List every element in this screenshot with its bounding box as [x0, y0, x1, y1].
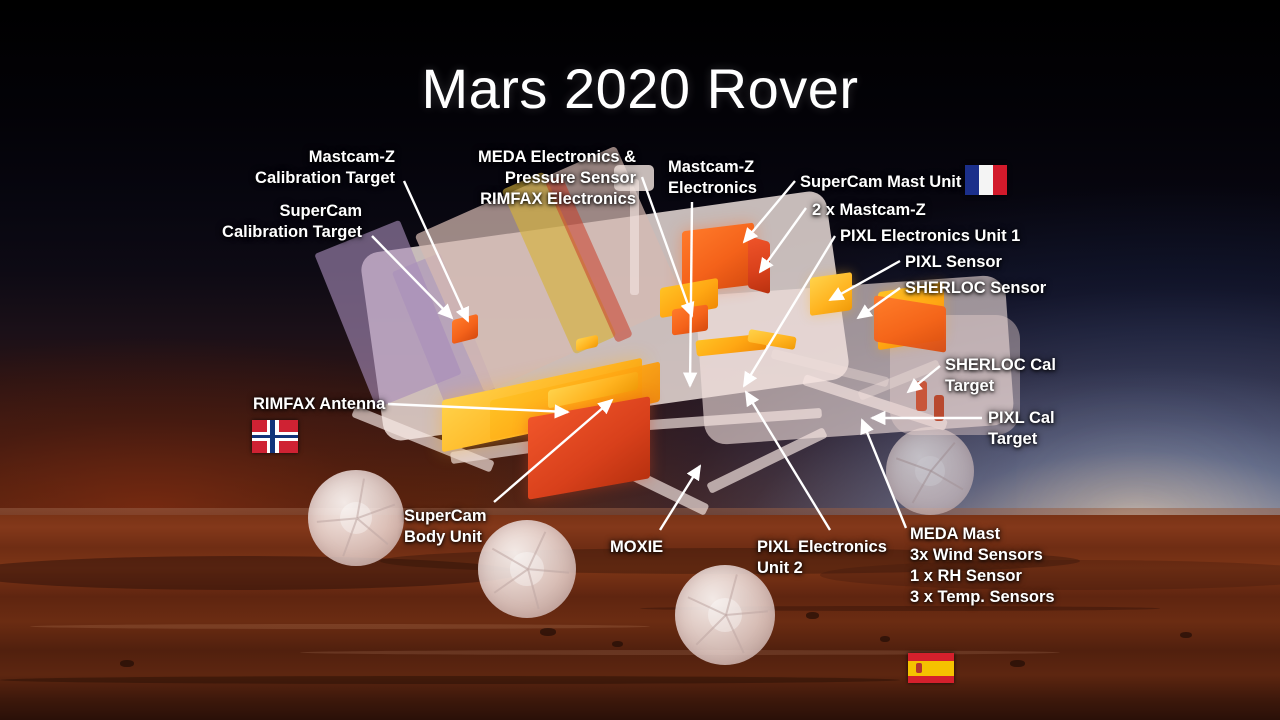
- flag-band-white: [979, 165, 993, 195]
- pixl-electronics-unit-1: [810, 272, 852, 316]
- label-meda-pressure-rimfax: MEDA Electronics & Pressure Sensor RIMFA…: [416, 147, 636, 210]
- label-2x-mastcam-z: 2 x Mastcam-Z: [812, 200, 992, 221]
- label-supercam-body-unit: SuperCam Body Unit: [404, 506, 564, 548]
- flag-coat-of-arms: [916, 663, 922, 673]
- rimfax-electronics-box: [672, 304, 708, 335]
- label-pixl-electronics-unit-1: PIXL Electronics Unit 1: [840, 226, 1060, 247]
- label-sherloc-cal-target: SHERLOC Cal Target: [945, 355, 1105, 397]
- rock: [120, 660, 134, 667]
- label-rimfax-antenna: RIMFAX Antenna: [253, 394, 433, 415]
- rock: [1180, 632, 1192, 638]
- mastcam-z-electronics-side: [748, 236, 770, 294]
- flag-band-yellow: [908, 661, 954, 676]
- rover-wheel-rear-right: [886, 427, 974, 515]
- page-title: Mars 2020 Rover: [0, 56, 1280, 121]
- rover-wheel-front-left: [308, 470, 404, 566]
- label-pixl-cal-target: PIXL Cal Target: [988, 408, 1138, 450]
- label-pixl-sensor: PIXL Sensor: [905, 252, 1085, 273]
- sherloc-cal-target: [916, 381, 927, 411]
- spain-flag-icon: [908, 653, 954, 683]
- label-moxie: MOXIE: [610, 537, 730, 558]
- label-pixl-electronics-unit-2: PIXL Electronics Unit 2: [757, 537, 917, 579]
- rover-wheel-rear-left: [675, 565, 775, 665]
- mars-2020-rover-infographic: Mars 2020 Rover Mastcam-Z Calibration Ta…: [0, 0, 1280, 720]
- pixl-cal-target: [934, 395, 944, 421]
- label-mastcam-z-cal-target: Mastcam-Z Calibration Target: [195, 147, 395, 189]
- label-meda-mast: MEDA Mast 3x Wind Sensors 1 x RH Sensor …: [910, 524, 1130, 608]
- label-sherloc-sensor: SHERLOC Sensor: [905, 278, 1105, 299]
- label-supercam-cal-target: SuperCam Calibration Target: [162, 201, 362, 243]
- norway-flag-icon: [252, 420, 298, 453]
- flag-cross-blue-horizontal: [252, 435, 298, 439]
- flag-band-blue: [965, 165, 979, 195]
- france-flag-icon: [965, 165, 1007, 195]
- flag-band-red: [993, 165, 1007, 195]
